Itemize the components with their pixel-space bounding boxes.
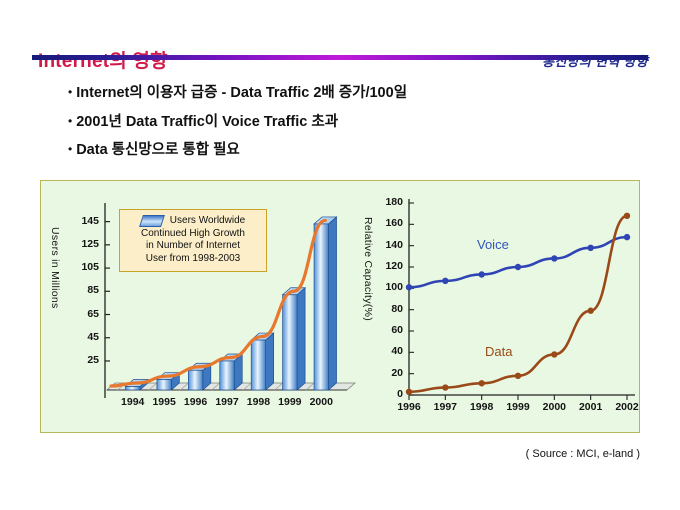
series-label-data: Data: [485, 344, 512, 359]
bullet-text: 2001년 Data Traffic이 Voice Traffic 초과: [76, 114, 338, 130]
y-tick-label: 65: [61, 308, 99, 320]
bullet-text: Data 통신망으로 통합 필요: [76, 142, 240, 158]
header-subtitle: 통신망의 변혁 방향: [542, 51, 648, 70]
internet-users-chart: Users in Millions 25456585105125145 1994…: [41, 181, 359, 434]
legend-header-row: Users Worldwide: [124, 215, 262, 228]
y-tick-label: 80: [367, 303, 403, 315]
y-tick-label: 45: [61, 331, 99, 343]
y-tick-label: 100: [367, 281, 403, 293]
series-label-voice: Voice: [477, 237, 509, 252]
y-tick-label: 25: [61, 354, 99, 366]
bullet-dot-icon: •: [68, 85, 72, 99]
y-tick-label: 145: [61, 215, 99, 227]
x-tick-label: 1997: [426, 401, 464, 413]
left-chart-y-axis-label: Users in Millions: [49, 227, 61, 377]
x-tick-label: 2000: [535, 401, 573, 413]
x-tick-label: 2002: [608, 401, 646, 413]
chart-legend: Users Worldwide Continued High Growth in…: [119, 209, 267, 272]
header-divider: [32, 55, 648, 60]
x-tick-label: 2000: [301, 396, 341, 408]
bullet-dot-icon: •: [68, 142, 72, 156]
y-tick-label: 140: [367, 239, 403, 251]
list-item: •2001년 Data Traffic이 Voice Traffic 초과: [68, 113, 628, 133]
x-tick-label: 2001: [572, 401, 610, 413]
y-tick-label: 180: [367, 196, 403, 208]
slide-root: Internet의 영향 통신망의 변혁 방향 •Internet의 이용자 급…: [0, 0, 680, 510]
list-item: •Internet의 이용자 급증 - Data Traffic 2배 증가/1…: [68, 84, 628, 104]
charts-panel: Users in Millions 25456585105125145 1994…: [40, 180, 640, 433]
x-tick-label: 1998: [463, 401, 501, 413]
bullet-text: Internet의 이용자 급증 - Data Traffic 2배 증가/10…: [76, 85, 407, 101]
x-tick-label: 1999: [499, 401, 537, 413]
bullet-dot-icon: •: [68, 114, 72, 128]
y-tick-label: 125: [61, 238, 99, 250]
legend-line-1: Users Worldwide: [170, 215, 245, 228]
bar-swatch-icon: [139, 215, 165, 227]
y-tick-label: 20: [367, 367, 403, 379]
y-tick-label: 60: [367, 324, 403, 336]
y-tick-label: 160: [367, 217, 403, 229]
y-tick-label: 120: [367, 260, 403, 272]
relative-capacity-chart: Relative Capacity(%) 0204060801001201401…: [359, 181, 641, 434]
source-note: ( Source : MCI, e-land ): [526, 448, 640, 460]
y-tick-label: 40: [367, 345, 403, 357]
y-tick-label: 0: [367, 388, 403, 400]
y-tick-label: 105: [61, 261, 99, 273]
list-item: •Data 통신망으로 통합 필요: [68, 141, 628, 161]
legend-line-4: User from 1998-2003: [124, 253, 262, 266]
x-tick-label: 1996: [390, 401, 428, 413]
legend-line-2: Continued High Growth: [124, 228, 262, 241]
y-tick-label: 85: [61, 284, 99, 296]
legend-line-3: in Number of Internet: [124, 240, 262, 253]
bullet-list: •Internet의 이용자 급증 - Data Traffic 2배 증가/1…: [68, 84, 628, 170]
